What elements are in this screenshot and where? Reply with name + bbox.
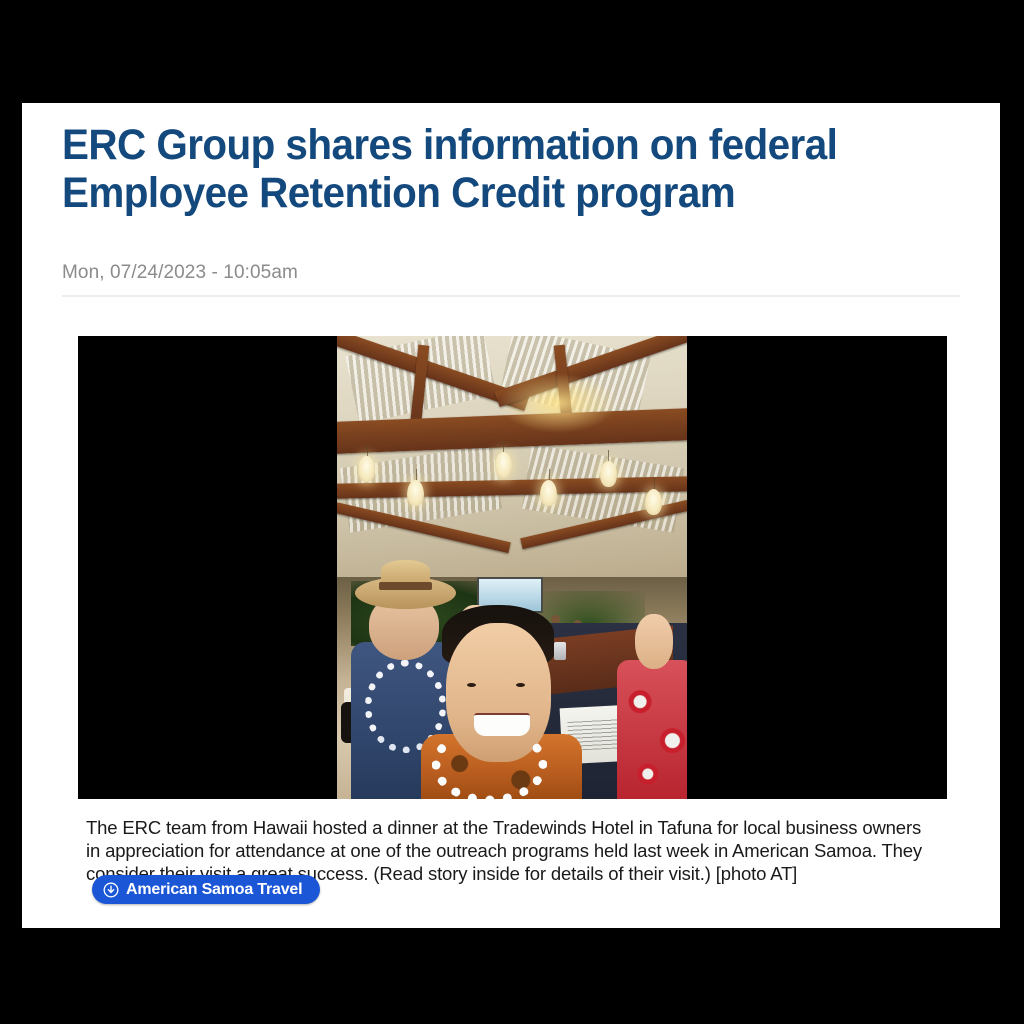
- page-title: ERC Group shares information on federal …: [62, 121, 889, 217]
- ceiling-light-glow: [498, 373, 618, 433]
- source-badge-label: American Samoa Travel: [126, 881, 302, 899]
- header-divider: [62, 295, 960, 297]
- hanging-lantern: [600, 461, 617, 487]
- woman-face: [635, 614, 674, 670]
- photo-content: [337, 336, 687, 799]
- hanging-lantern: [645, 489, 662, 515]
- circle-arrow-down-icon: [103, 882, 119, 898]
- source-badge[interactable]: American Samoa Travel: [92, 875, 320, 904]
- hanging-lantern: [540, 480, 557, 506]
- article-photo: [78, 336, 947, 799]
- article-card: ERC Group shares information on federal …: [22, 103, 1000, 928]
- shell-lei: [432, 725, 548, 799]
- drinking-glass: [554, 642, 566, 660]
- hanging-lantern: [495, 452, 512, 478]
- woman-in-print-dress-figure: [617, 660, 687, 799]
- hanging-lantern: [358, 456, 375, 482]
- article-date: Mon, 07/24/2023 - 10:05am: [62, 261, 298, 285]
- hanging-lantern: [407, 480, 424, 506]
- straw-hat: [355, 577, 457, 609]
